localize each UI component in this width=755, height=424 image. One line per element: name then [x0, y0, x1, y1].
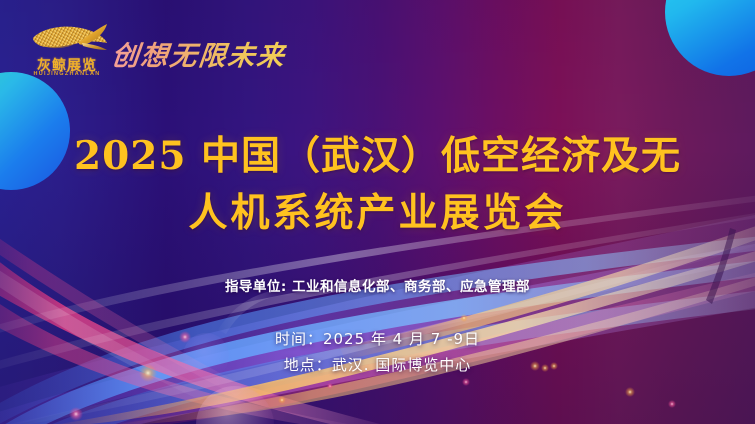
brand-logo[interactable]: 灰鲸展览 HUIJINGZHANLAN — [19, 22, 115, 80]
event-poster: 灰鲸展览 HUIJINGZHANLAN 创想无限未来 2025 中国（武汉）低空… — [0, 0, 755, 424]
event-meta: 时间：2025 年 4 月 7 -9日 地点：武汉. 国际博览中心 — [0, 326, 755, 378]
event-title-line-1: 2025 中国（武汉）低空经济及无 — [0, 128, 755, 185]
event-title-line-2: 人机系统产业展览会 — [0, 185, 755, 242]
organizer-line: 指导单位: 工业和信息化部、商务部、应急管理部 — [0, 275, 755, 295]
event-location: 地点：武汉. 国际博览中心 — [0, 352, 755, 378]
logo-company-name-en: HUIJINGZHANLAN — [19, 71, 115, 77]
event-time: 时间：2025 年 4 月 7 -9日 — [0, 326, 755, 352]
event-title: 2025 中国（武汉）低空经济及无 人机系统产业展览会 — [0, 128, 755, 241]
decorative-soft-orb-bottom — [196, 386, 274, 424]
brand-slogan: 创想无限未来 — [110, 34, 288, 73]
whale-logo-icon — [27, 22, 109, 56]
decorative-circle-top-right — [665, 0, 755, 76]
